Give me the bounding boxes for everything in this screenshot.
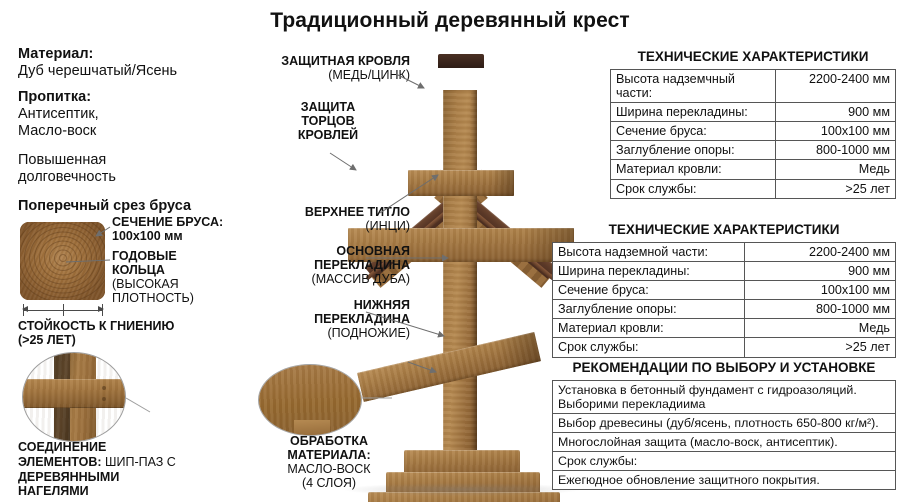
material-value: Дуб черешчатый/Ясень xyxy=(18,63,253,80)
callout-beam-section: СЕЧЕНИЕ БРУСА: 100x100 мм xyxy=(112,215,252,243)
joint-line4: НАГЕЛЯМИ xyxy=(18,484,246,499)
table-row: Установка в бетонный фундамент с гидроаз… xyxy=(553,381,896,414)
cross-section-heading: Поперечный срез бруса xyxy=(18,198,191,214)
spec-key: Ширина перекладины: xyxy=(611,103,776,122)
durability-block: Повышенная долговечность xyxy=(18,152,253,186)
impregnation-label: Пропитка: xyxy=(18,89,253,106)
tech-specs-panel-2: ТЕХНИЧЕСКИЕ ХАРАКТЕРИСТИКИ Высота надзем… xyxy=(552,222,896,358)
dimension-tick-mid xyxy=(63,304,64,316)
callout-rings-sub1: (ВЫСОКАЯ xyxy=(112,277,252,291)
table-row: Материал кровли: Медь xyxy=(611,160,896,179)
impregnation-block: Пропитка: Антисептик, Масло-воск xyxy=(18,89,253,140)
material-treatment-inset xyxy=(258,364,362,436)
table-row: Выбор древесины (дуб/ясень, плотность 65… xyxy=(553,414,896,433)
leader-joint-detail xyxy=(126,398,150,412)
annotation-main-bar-line2: ПЕРЕКЛАДИНА xyxy=(248,258,410,272)
spec-key: Высота надземчный части: xyxy=(611,70,776,103)
annotation-ends-line2: ТОРЦОВ xyxy=(268,114,388,128)
annotation-protective-roof: ЗАЩИТНАЯ КРОВЛЯ (МЕДЬ/ЦИНК) xyxy=(248,54,410,82)
spec-key: Высота надземной части: xyxy=(553,243,745,262)
rot-resistance-line1: СТОЙКОСТЬ К ГНИЕНИЮ xyxy=(18,319,248,333)
table-row: Сечение бруса: 100x100 мм xyxy=(611,122,896,141)
spec-key: Срок службы: xyxy=(611,179,776,198)
beam-cross-section-illustration xyxy=(20,222,105,300)
joint-line2b: ШИП-ПАЗ С xyxy=(102,455,176,469)
joint-description: СОЕДИНЕНИЕ ЭЛЕМЕНТОВ: ШИП-ПАЗ С ДЕРЕВЯНН… xyxy=(18,440,246,499)
cross-titlo-bar xyxy=(408,170,514,196)
recommendation-item: Ежегюдное обновление защитного покрытия. xyxy=(553,471,896,490)
joint-detail-inset xyxy=(22,352,126,442)
spec-key: Заглубление опоры: xyxy=(611,141,776,160)
joint-line1: СОЕДИНЕНИЕ xyxy=(18,440,246,455)
callout-rings-sub2: ПЛОТНОСТЬ) xyxy=(112,291,252,305)
joint-line3: ДЕРЕВЯННЫМИ xyxy=(18,470,246,485)
table-row: Заглубление опоры: 800-1000 мм xyxy=(553,300,896,319)
spec-key: Заглубление опоры: xyxy=(553,300,745,319)
annotation-lower-bar-line3: (ПОДНОЖИЕ) xyxy=(248,326,410,340)
table-row: Высота надземной части: 2200-2400 мм xyxy=(553,243,896,262)
arrow-left-icon xyxy=(22,306,28,312)
recommendation-item: Срок службы: xyxy=(553,452,896,471)
annual-rings-graphic xyxy=(20,222,105,300)
tech-specs-1-table: Высота надземчный части: 2200-2400 мм Ши… xyxy=(610,69,896,199)
spec-value: 2200-2400 мм xyxy=(776,70,896,103)
impregnation-value-line2: Масло-воск xyxy=(18,123,253,140)
spec-key: Материал кровли: xyxy=(553,319,745,338)
annotation-ends-line3: КРОВЛЕЙ xyxy=(268,128,388,142)
callout-beam-section-title: СЕЧЕНИЕ БРУСА: xyxy=(112,215,252,229)
durability-line1: Повышенная xyxy=(18,152,253,169)
table-row: Ширина перекладины: 900 мм xyxy=(553,262,896,281)
annotation-lower-bar-line2: ПЕРЕКЛАДИНА xyxy=(248,312,410,326)
tech-specs-2-table: Высота надземной части: 2200-2400 мм Шир… xyxy=(552,242,896,358)
annotation-titlo-line2: (ИНЦИ) xyxy=(248,219,410,233)
annotation-titlo-line1: ВЕРХНЕЕ ТИТЛО xyxy=(248,205,410,219)
recommendation-item: Установка в бетонный фундамент с гидроаз… xyxy=(553,381,896,414)
annotation-main-crossbar: ОСНОВНАЯ ПЕРЕКЛАДИНА (МАССИВ ДУБА) xyxy=(248,244,410,286)
annotation-treat-line3: МАСЛО-ВОСК xyxy=(248,462,410,476)
spec-value: >25 лет xyxy=(745,338,896,357)
spec-value: 100x100 мм xyxy=(776,122,896,141)
rot-resistance-line2: (>25 ЛЕТ) xyxy=(18,333,248,347)
spec-value: 900 мм xyxy=(776,103,896,122)
beam-width-dimension-arrow xyxy=(20,304,106,316)
spec-value: 100x100 мм xyxy=(745,281,896,300)
table-row: Высота надземчный части: 2200-2400 мм xyxy=(611,70,896,103)
diagram-page: Традиционный деревянный крест Материал: … xyxy=(0,0,900,502)
annotation-upper-titlo: ВЕРХНЕЕ ТИТЛО (ИНЦИ) xyxy=(248,205,410,233)
page-title: Традиционный деревянный крест xyxy=(0,9,900,33)
annotation-treat-line2: МАТЕРИАЛА: xyxy=(248,448,410,462)
table-row: Срок службы: >25 лет xyxy=(611,179,896,198)
table-row: Многослойная защита (масло-воск, антисеп… xyxy=(553,433,896,452)
annotation-ends-line1: ЗАЩИТА xyxy=(268,100,388,114)
material-block: Материал: Дуб черешчатый/Ясень xyxy=(18,46,253,80)
joint-line2: ЭЛЕМЕНТОВ: xyxy=(18,455,102,469)
rot-resistance-note: СТОЙКОСТЬ К ГНИЕНИЮ (>25 ЛЕТ) xyxy=(18,319,248,348)
callout-beam-section-value: 100x100 мм xyxy=(112,229,252,243)
recommendation-item: Выбор древесины (дуб/ясень, плотность 65… xyxy=(553,414,896,433)
annotation-treat-line4: (4 СЛОЯ) xyxy=(248,476,410,490)
table-row: Ширина перекладины: 900 мм xyxy=(611,103,896,122)
callout-rings-line2: КОЛЬЦА xyxy=(112,263,252,277)
spec-value: 2200-2400 мм xyxy=(745,243,896,262)
treatment-surface-image xyxy=(259,365,361,435)
roof-ridge-cap xyxy=(438,54,484,68)
annotation-main-bar-line3: (МАССИВ ДУБА) xyxy=(248,272,410,286)
annotation-end-protection: ЗАЩИТА ТОРЦОВ КРОВЛЕЙ xyxy=(268,100,388,142)
annotation-material-treatment: ОБРАБОТКА МАТЕРИАЛА: МАСЛО-ВОСК (4 СЛОЯ) xyxy=(248,434,410,490)
impregnation-value-line1: Антисептик, xyxy=(18,106,253,123)
joint-detail-image xyxy=(23,353,125,441)
annotation-treat-line1: ОБРАБОТКА xyxy=(248,434,410,448)
recommendations-table: Установка в бетонный фундамент с гидроаз… xyxy=(552,380,896,490)
joint-grain-texture xyxy=(23,353,125,441)
table-row: Срок службы: xyxy=(553,452,896,471)
tech-specs-panel-1: ТЕХНИЧЕСКИЕ ХАРАКТЕРИСТИКИ Высота надзем… xyxy=(610,49,896,199)
table-row: Ежегюдное обновление защитного покрытия. xyxy=(553,471,896,490)
annotation-lower-bar-line1: НИЖНЯЯ xyxy=(248,298,410,312)
recommendations-panel: РЕКОМЕНДАЦИИ ПО ВЫБОРУ И УСТАНОВКЕ Устан… xyxy=(552,360,896,490)
left-info-column: Материал: Дуб черешчатый/Ясень Пропитка:… xyxy=(18,46,253,186)
titlo-shading xyxy=(491,170,514,196)
annotation-roof-line2: (МЕДЬ/ЦИНК) xyxy=(248,68,410,82)
spec-key: Сечение бруса: xyxy=(611,122,776,141)
annotation-main-bar-line1: ОСНОВНАЯ xyxy=(248,244,410,258)
table-row: Срок службы: >25 лет xyxy=(553,338,896,357)
lower-bar-shading xyxy=(495,332,541,370)
spec-value: >25 лет xyxy=(776,179,896,198)
recommendations-title: РЕКОМЕНДАЦИИ ПО ВЫБОРУ И УСТАНОВКЕ xyxy=(552,360,896,375)
spec-key: Сечение бруса: xyxy=(553,281,745,300)
cross-vertical-post xyxy=(443,90,477,462)
spec-value: 800-1000 мм xyxy=(745,300,896,319)
spec-key: Материал кровли: xyxy=(611,160,776,179)
arrow-right-icon xyxy=(98,306,104,312)
spec-value: Медь xyxy=(776,160,896,179)
annotation-lower-crossbar: НИЖНЯЯ ПЕРЕКЛАДИНА (ПОДНОЖИЕ) xyxy=(248,298,410,340)
tech-specs-1-title: ТЕХНИЧЕСКИЕ ХАРАКТЕРИСТИКИ xyxy=(610,49,896,64)
spec-key: Ширина перекладины: xyxy=(553,262,745,281)
annotation-roof-line1: ЗАЩИТНАЯ КРОВЛЯ xyxy=(248,54,410,68)
callout-annual-rings: ГОДОВЫЕ КОЛЬЦА (ВЫСОКАЯ ПЛОТНОСТЬ) xyxy=(112,249,252,305)
material-label: Материал: xyxy=(18,46,253,63)
spec-key: Срок службы: xyxy=(553,338,745,357)
recommendation-item: Многослойная защита (масло-воск, антисеп… xyxy=(553,433,896,452)
durability-line2: долговечность xyxy=(18,169,253,186)
callout-rings-line1: ГОДОВЫЕ xyxy=(112,249,252,263)
table-row: Материал кровли: Медь xyxy=(553,319,896,338)
spec-value: 800-1000 мм xyxy=(776,141,896,160)
table-row: Заглубление опоры: 800-1000 мм xyxy=(611,141,896,160)
post-shading xyxy=(470,90,477,462)
spec-value: Медь xyxy=(745,319,896,338)
tech-specs-2-title: ТЕХНИЧЕСКИЕ ХАРАКТЕРИСТИКИ xyxy=(552,222,896,237)
table-row: Сечение бруса: 100x100 мм xyxy=(553,281,896,300)
spec-value: 900 мм xyxy=(745,262,896,281)
